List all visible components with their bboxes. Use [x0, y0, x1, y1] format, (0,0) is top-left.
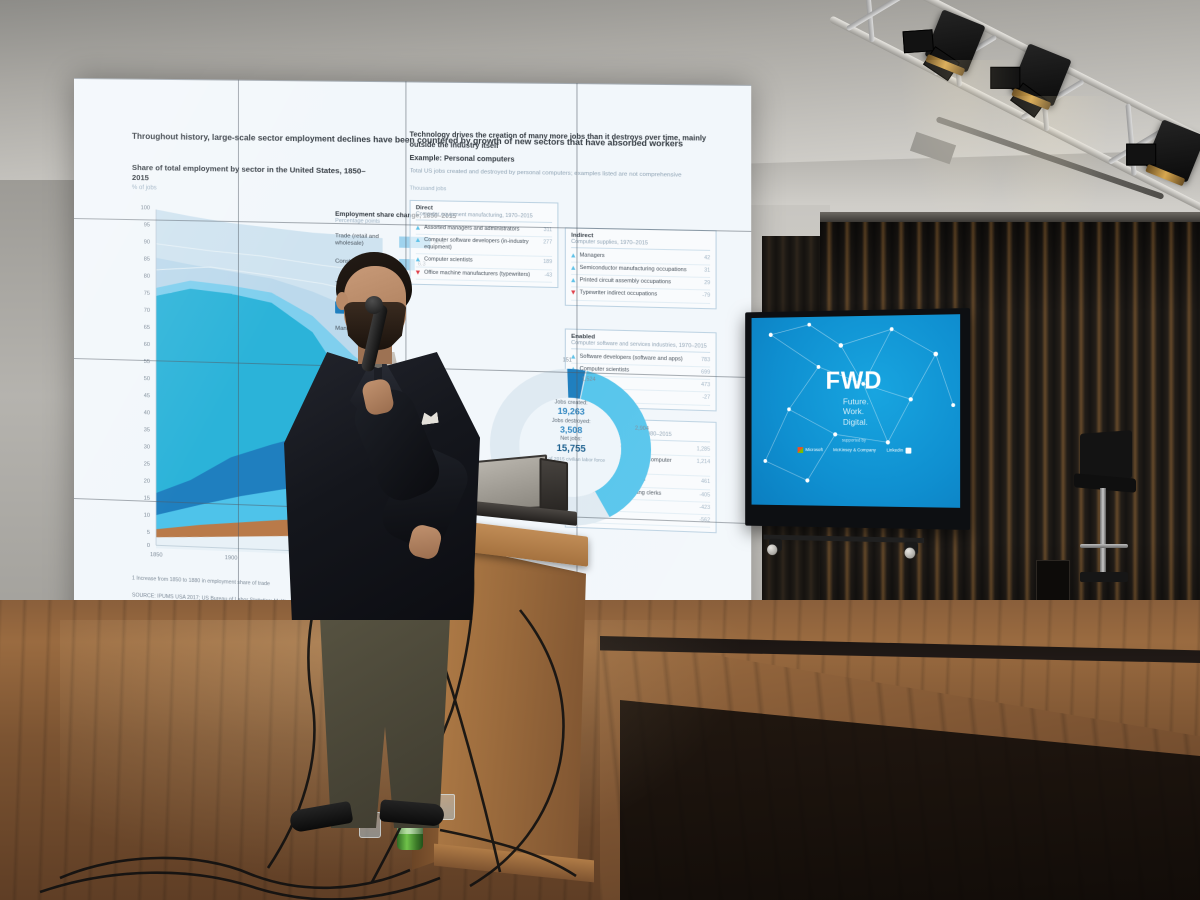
panel-item-value: -27 [702, 395, 710, 402]
panel-subtitle: Computer supplies, 1970–2015 [571, 239, 710, 251]
panel-item-value: -562 [699, 517, 710, 524]
panel-indirect: IndirectComputer supplies, 1970–2015Mana… [565, 227, 717, 309]
panel-item-value: 42 [704, 255, 710, 262]
stand-wheel [905, 548, 916, 559]
panel-item-value: -79 [702, 293, 710, 300]
display-stand [763, 526, 923, 555]
donut-label-2: 2,904 [635, 426, 649, 433]
linkedin-icon [905, 447, 911, 453]
stand-wheel [767, 544, 777, 555]
panel-item-direction [571, 253, 576, 257]
right-slide-unit: Thousand jobs [410, 186, 447, 193]
panel-item-value: 31 [704, 268, 710, 275]
truss-brace [846, 0, 910, 31]
fwd-screen: FWD Future. Work. Digital. supported by … [752, 314, 961, 508]
panel-item-label: Semiconductor manufacturing occupations [580, 265, 701, 275]
panel-item-label: Assorted managers and administrators [424, 225, 540, 235]
triangle-up-icon [571, 253, 575, 257]
right-slide-headline: Technology drives the creation of many m… [410, 130, 728, 155]
panel-item-value: 699 [701, 370, 710, 377]
triangle-up-icon [571, 278, 575, 282]
microsoft-logo: Microsoft [798, 447, 823, 453]
panel-item-direction [571, 266, 576, 270]
fwd-logo-row: Microsoft McKinsey & Company LinkedIn [798, 447, 911, 454]
microsoft-label: Microsoft [805, 447, 822, 452]
panel-item-value: 473 [701, 382, 710, 389]
panel-item-label: Typewriter indirect occupations [580, 290, 699, 300]
fwd-tagline: Future. Work. Digital. [839, 397, 869, 427]
panel-item-label: Printed circuit assembly occupations [580, 277, 701, 287]
panel-item-value: -423 [699, 504, 710, 511]
stool-footrest [1080, 544, 1128, 548]
mckinsey-label: McKinsey & Company [833, 447, 876, 452]
linkedin-label: LinkedIn [887, 448, 904, 453]
right-slide-subtitle: Total US jobs created and destroyed by p… [410, 167, 728, 181]
net-jobs-value: 15,755 [527, 442, 616, 456]
panel-item-value: 311 [544, 227, 552, 234]
panel-item-value: -43 [544, 272, 552, 279]
barn-door [990, 67, 1020, 89]
barn-door [903, 29, 934, 53]
panel-item-value: 277 [543, 239, 552, 246]
stool-base [1080, 572, 1128, 582]
panel-item-label: Managers [580, 252, 701, 262]
panel-item-direction [571, 278, 576, 282]
linkedin-logo: LinkedIn [887, 447, 911, 453]
panel-item: Typewriter indirect occupations-79 [571, 288, 710, 304]
fwd-supported-label: supported by [842, 437, 866, 442]
slide-subtitle: Share of total employment by sector in t… [132, 163, 366, 188]
panel-item-value: 1,285 [697, 446, 710, 453]
panel-item-value: 783 [701, 357, 710, 364]
stand-bar [763, 535, 923, 543]
panel-item-value: 189 [543, 259, 552, 266]
donut-label-0: 151 [563, 357, 572, 363]
panel-item-value: 29 [704, 280, 710, 287]
panel-item-direction [416, 226, 421, 230]
panel-item-value: 1,214 [697, 459, 710, 466]
right-slide-example: Example: Personal computers [410, 155, 515, 164]
fwd-display[interactable]: FWD Future. Work. Digital. supported by … [745, 308, 970, 530]
microsoft-icon [798, 447, 804, 453]
panel-item-value: -405 [699, 492, 710, 499]
laptop-second-screen [540, 458, 569, 512]
fwd-title: FWD [826, 369, 883, 394]
presenter [258, 240, 528, 820]
stool-post [1100, 488, 1106, 576]
triangle-down-icon [571, 291, 575, 295]
presentation-scene: Throughout history, large-scale sector e… [0, 0, 1200, 900]
left-wall-panel [0, 180, 80, 660]
donut-label-1: 1,524 [582, 376, 596, 383]
curtain-rail [820, 212, 1200, 222]
fwd-content: FWD Future. Work. Digital. supported by … [752, 314, 961, 508]
jobs-created-value: 19,263 [527, 406, 616, 419]
triangle-up-icon [571, 266, 575, 270]
presenter-trousers [310, 598, 460, 828]
panel-item-value: 461 [701, 479, 710, 486]
barn-door [1126, 144, 1156, 166]
jobs-destroyed-value: 3,508 [527, 424, 616, 437]
triangle-up-icon [416, 226, 420, 230]
panel-subtitle: Computer equipment manufacturing, 1970–2… [416, 211, 552, 223]
mckinsey-logo: McKinsey & Company [833, 447, 876, 452]
panel-item-direction [571, 291, 576, 295]
